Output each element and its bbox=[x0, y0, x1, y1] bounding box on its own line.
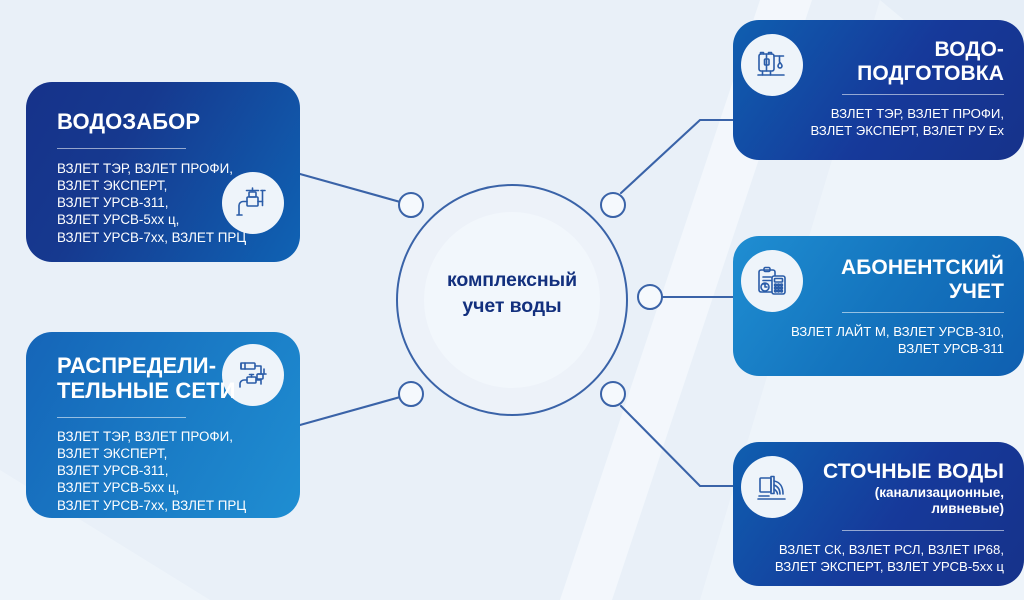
card-divider bbox=[842, 312, 1004, 313]
body-line: ВЗЛЕТ ЛАЙТ М, ВЗЛЕТ УРСВ-310, bbox=[752, 324, 1004, 341]
card-subtitle-line: ливневые) bbox=[875, 501, 1004, 517]
outfall-pipe-icon bbox=[741, 456, 803, 518]
card-title-line: ТЕЛЬНЫЕ СЕТИ bbox=[57, 379, 236, 404]
body-line: ВЗЛЕТ ТЭР, ВЗЛЕТ ПРОФИ, bbox=[752, 106, 1004, 123]
card-title-line: ВОДО- bbox=[857, 38, 1004, 62]
node-top-right[interactable] bbox=[600, 192, 626, 218]
card-title-line: УЧЕТ bbox=[841, 280, 1004, 304]
card-body-stochnye: ВЗЛЕТ СК, ВЗЛЕТ РСЛ, ВЗЛЕТ IP68, ВЗЛЕТ Э… bbox=[744, 542, 1004, 576]
body-line: ВЗЛЕТ УРСВ-311, bbox=[57, 194, 287, 211]
body-line: ВЗЛЕТ ЭКСПЕРТ, bbox=[57, 177, 287, 194]
body-line: ВЗЛЕТ СК, ВЗЛЕТ РСЛ, ВЗЛЕТ IP68, bbox=[744, 542, 1004, 559]
card-divider bbox=[57, 417, 186, 418]
card-divider bbox=[842, 94, 1004, 95]
body-line: ВЗЛЕТ ТЭР, ВЗЛЕТ ПРОФИ, bbox=[57, 160, 287, 177]
body-line: ВЗЛЕТ УРСВ-7хх, ВЗЛЕТ ПРЦ bbox=[57, 497, 287, 514]
water-treatment-tanks-icon bbox=[741, 34, 803, 96]
card-vodopodgotovka[interactable]: ВОДО- ПОДГОТОВКА ВЗЛЕТ ТЭР, ВЗЛЕТ ПРОФИ,… bbox=[733, 20, 1024, 160]
card-title-line: РАСПРЕДЕЛИ- bbox=[57, 354, 236, 379]
body-line: ВЗЛЕТ УРСВ-7хх, ВЗЛЕТ ПРЦ bbox=[57, 229, 287, 246]
card-title-vodozabor: ВОДОЗАБОР bbox=[57, 110, 200, 135]
hub-label-line1: комплексный bbox=[412, 268, 612, 294]
hub-label-line2: учет воды bbox=[412, 294, 612, 320]
body-line: ВЗЛЕТ УРСВ-311, bbox=[57, 462, 287, 479]
clipboard-calculator-icon bbox=[741, 250, 803, 312]
card-title-line: ПОДГОТОВКА bbox=[857, 62, 1004, 86]
card-subtitle-stochnye: (канализационные, ливневые) bbox=[875, 485, 1004, 517]
infographic-canvas: комплексный учет воды ВОДОЗАБОР ВЗЛЕТ ТЭ… bbox=[0, 0, 1024, 600]
card-title-abonentskiy: АБОНЕНТСКИЙ УЧЕТ bbox=[841, 256, 1004, 303]
card-stochnye[interactable]: СТОЧНЫЕ ВОДЫ (канализационные, ливневые)… bbox=[733, 442, 1024, 586]
wire-vodozabor bbox=[300, 174, 411, 205]
card-body-raspredelitelnye: ВЗЛЕТ ТЭР, ВЗЛЕТ ПРОФИ, ВЗЛЕТ ЭКСПЕРТ, В… bbox=[57, 428, 287, 514]
body-line: ВЗЛЕТ ЭКСПЕРТ, ВЗЛЕТ УРСВ-5хх ц bbox=[744, 559, 1004, 576]
wire-vodopodgotovka bbox=[621, 120, 733, 193]
body-line: ВЗЛЕТ ЭКСПЕРТ, bbox=[57, 445, 287, 462]
body-line: ВЗЛЕТ ЭКСПЕРТ, ВЗЛЕТ РУ Ex bbox=[752, 123, 1004, 140]
card-title-vodopodgotovka: ВОДО- ПОДГОТОВКА bbox=[857, 38, 1004, 85]
node-top-left[interactable] bbox=[398, 192, 424, 218]
wire-stochnye bbox=[621, 406, 733, 486]
card-subtitle-line: (канализационные, bbox=[875, 485, 1004, 501]
body-line: ВЗЛЕТ УРСВ-5хх ц, bbox=[57, 211, 287, 228]
card-raspredelitelnye[interactable]: РАСПРЕДЕЛИ- ТЕЛЬНЫЕ СЕТИ ВЗЛЕТ ТЭР, ВЗЛЕ… bbox=[26, 332, 300, 518]
card-body-abonentskiy: ВЗЛЕТ ЛАЙТ М, ВЗЛЕТ УРСВ-310, ВЗЛЕТ УРСВ… bbox=[752, 324, 1004, 358]
node-bottom-left[interactable] bbox=[398, 381, 424, 407]
body-line: ВЗЛЕТ УРСВ-5хх ц, bbox=[57, 479, 287, 496]
card-abonentskiy[interactable]: АБОНЕНТСКИЙ УЧЕТ ВЗЛЕТ ЛАЙТ М, ВЗЛЕТ УРС… bbox=[733, 236, 1024, 376]
card-divider bbox=[57, 148, 186, 149]
card-body-vodozabor: ВЗЛЕТ ТЭР, ВЗЛЕТ ПРОФИ, ВЗЛЕТ ЭКСПЕРТ, В… bbox=[57, 160, 287, 246]
wire-raspredelitelnye bbox=[300, 394, 411, 425]
card-vodozabor[interactable]: ВОДОЗАБОР ВЗЛЕТ ТЭР, ВЗЛЕТ ПРОФИ, ВЗЛЕТ … bbox=[26, 82, 300, 262]
node-bottom-right[interactable] bbox=[600, 381, 626, 407]
body-line: ВЗЛЕТ ТЭР, ВЗЛЕТ ПРОФИ, bbox=[57, 428, 287, 445]
card-divider bbox=[842, 530, 1004, 531]
card-title-stochnye: СТОЧНЫЕ ВОДЫ bbox=[823, 460, 1004, 484]
hub-label: комплексный учет воды bbox=[412, 268, 612, 319]
body-line: ВЗЛЕТ УРСВ-311 bbox=[752, 341, 1004, 358]
card-body-vodopodgotovka: ВЗЛЕТ ТЭР, ВЗЛЕТ ПРОФИ, ВЗЛЕТ ЭКСПЕРТ, В… bbox=[752, 106, 1004, 140]
node-right[interactable] bbox=[637, 284, 663, 310]
card-title-line: АБОНЕНТСКИЙ bbox=[841, 256, 1004, 280]
card-title-raspredelitelnye: РАСПРЕДЕЛИ- ТЕЛЬНЫЕ СЕТИ bbox=[57, 354, 236, 403]
